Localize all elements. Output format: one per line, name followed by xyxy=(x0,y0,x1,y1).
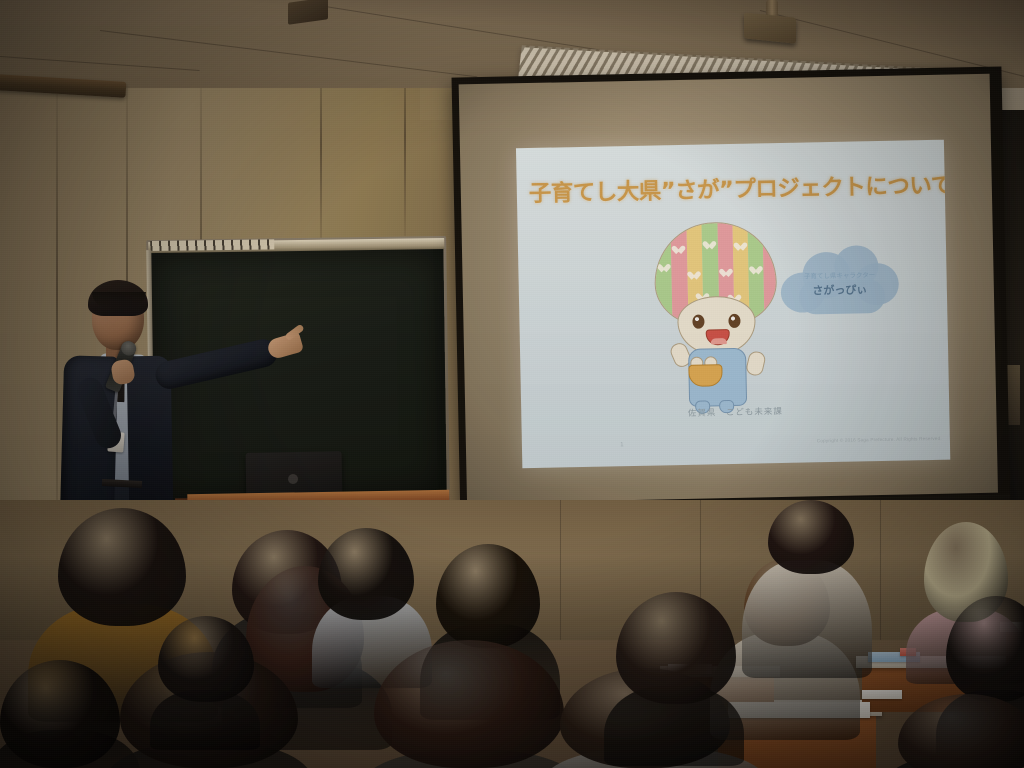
chalkboard-clips-icon xyxy=(150,239,274,251)
lecture-hall-photo: 子育てし大県”さが”プロジェクトについて xyxy=(0,0,1024,768)
presenter-hair xyxy=(88,280,148,316)
mascot-sagappy-illustration xyxy=(645,221,787,412)
slide-copyright: Copyright © 2016 Saga Prefecture. All Ri… xyxy=(817,436,942,444)
presenter-pointing-hand xyxy=(266,332,304,361)
fixture-housing xyxy=(744,12,796,43)
balloon-heart-icon xyxy=(676,246,685,254)
mascot-cloud-callout: 子育てし県キャラクター さがっぴぃ xyxy=(780,245,899,319)
presenter-pointing-arm xyxy=(153,336,280,391)
slide-page-number: 1 xyxy=(522,440,722,450)
attendee-cream-sweater-shoulders xyxy=(742,560,872,678)
projected-slide: 子育てし大県”さが”プロジェクトについて xyxy=(516,140,950,469)
balloon-heart-icon xyxy=(661,264,670,272)
projection-screen: 子育てし大県”さが”プロジェクトについて xyxy=(452,67,1011,530)
mascot-face xyxy=(677,296,756,356)
slide-title: 子育てし大県”さが”プロジェクトについて xyxy=(529,168,938,208)
mascot-eye-left xyxy=(692,315,704,329)
balloon-heart-icon xyxy=(738,243,747,251)
balloon-stripe xyxy=(762,222,777,324)
mascot-name-label: さがっぴぃ xyxy=(781,281,899,299)
mascot-mouth xyxy=(706,329,730,345)
balloon-heart-icon xyxy=(753,266,762,274)
balloon-heart-icon xyxy=(723,269,732,277)
balloon-heart-icon xyxy=(691,272,700,280)
mascot-arm-right xyxy=(745,350,767,377)
balloon-heart-icon xyxy=(707,241,716,249)
rear-wall-seam xyxy=(880,500,881,640)
mascot-eye-right xyxy=(728,314,740,328)
rear-wall-seam xyxy=(560,500,561,640)
paper-white-left xyxy=(862,690,902,699)
ceiling-hanging-fixture-icon xyxy=(744,0,796,46)
